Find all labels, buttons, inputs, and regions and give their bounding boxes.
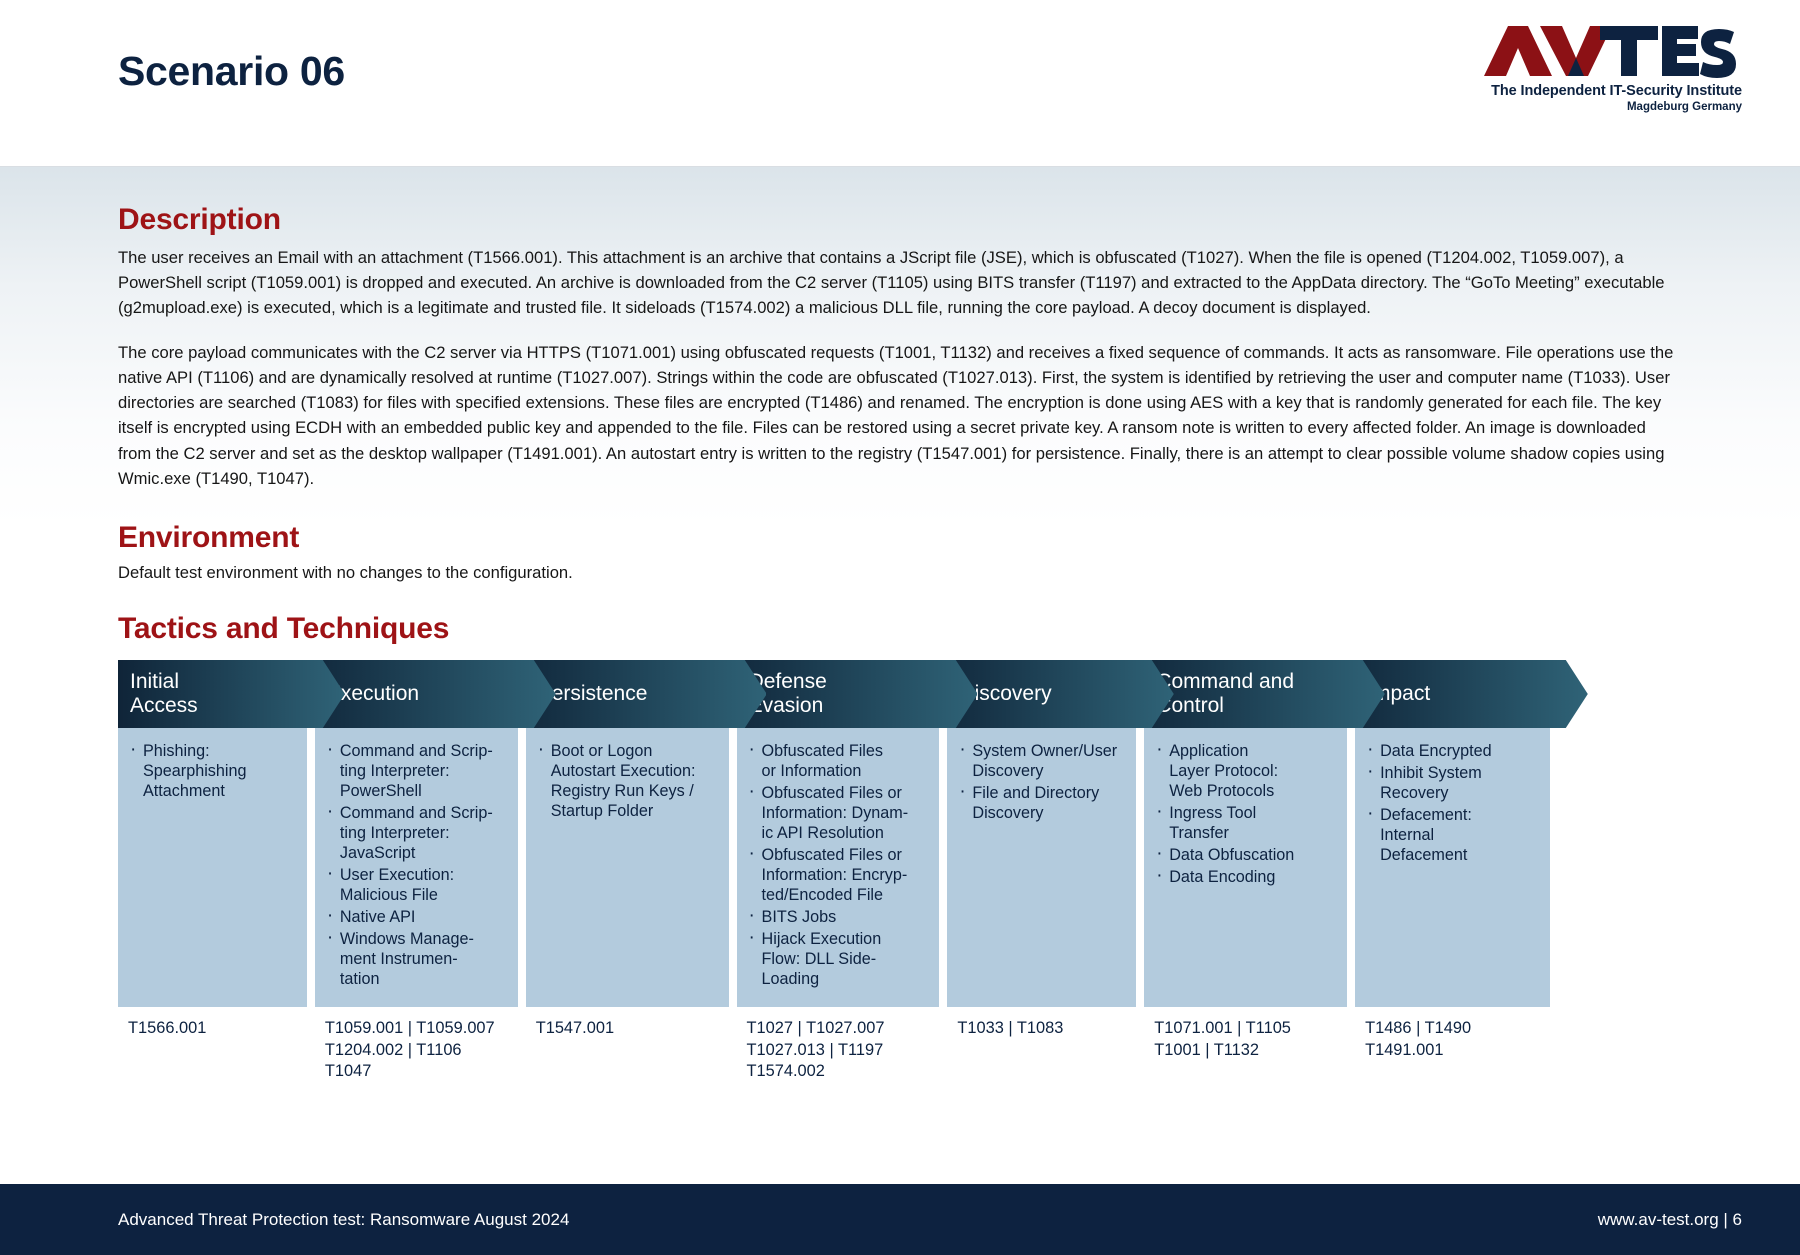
technique-item: User Execution: Malicious File [325,865,506,905]
technique-list: Application Layer Protocol: Web Protocol… [1154,741,1335,887]
av-test-logo: The Independent IT-Security Institute Ma… [1482,22,1742,115]
page-title: Scenario 06 [118,48,345,95]
footer-report-label: Advanced Threat Protection test: Ransomw… [118,1210,569,1230]
technique-list: Data EncryptedInhibit System RecoveryDef… [1365,741,1538,865]
technique-list: Command and Scrip- ting Interpreter: Pow… [325,741,506,989]
technique-item: Data Encoding [1154,867,1335,887]
environment-heading: Environment [118,521,1682,555]
technique-column: Command and Scrip- ting Interpreter: Pow… [315,728,518,1007]
technique-id-cell: T1033 | T1083 [947,1018,1136,1083]
technique-id-cell: T1547.001 [526,1018,729,1083]
technique-item: Native API [325,907,506,927]
technique-item: Obfuscated Files or Information [747,741,928,781]
technique-column: Boot or Logon Autostart Execution: Regis… [526,728,729,1007]
technique-item: Command and Scrip- ting Interpreter: Jav… [325,803,506,863]
technique-column: System Owner/User DiscoveryFile and Dire… [947,728,1136,1007]
technique-item: File and Directory Discovery [957,783,1124,823]
tactics-header-row: Initial AccessExecutionPersistenceDefens… [118,660,1550,728]
technique-id-cell: T1486 | T1490 T1491.001 [1355,1018,1550,1083]
description-heading: Description [118,203,1682,237]
technique-item: Application Layer Protocol: Web Protocol… [1154,741,1335,801]
tactics-body-row: Phishing: Spearphishing AttachmentComman… [118,728,1550,1007]
technique-column: Data EncryptedInhibit System RecoveryDef… [1355,728,1550,1007]
page-footer: Advanced Threat Protection test: Ransomw… [0,1184,1800,1255]
technique-list: Boot or Logon Autostart Execution: Regis… [536,741,717,821]
technique-list: Phishing: Spearphishing Attachment [128,741,295,801]
description-paragraph-2: The core payload communicates with the C… [118,340,1682,491]
tactics-table: Initial AccessExecutionPersistenceDefens… [118,660,1550,1083]
technique-item: Defacement: Internal Defacement [1365,805,1538,865]
page-content: Description The user receives an Email w… [0,167,1800,1185]
technique-item: Data Obfuscation [1154,845,1335,865]
tactics-heading: Tactics and Techniques [118,612,1550,646]
technique-item: Obfuscated Files or Information: Dynam- … [747,783,928,843]
technique-column: Phishing: Spearphishing Attachment [118,728,307,1007]
tactic-name: Command and Control [1156,670,1294,717]
technique-list: System Owner/User DiscoveryFile and Dire… [957,741,1124,823]
technique-column: Obfuscated Files or InformationObfuscate… [737,728,940,1007]
technique-item: Ingress Tool Transfer [1154,803,1335,843]
technique-item: Command and Scrip- ting Interpreter: Pow… [325,741,506,801]
technique-list: Obfuscated Files or InformationObfuscate… [747,741,928,989]
technique-item: Hijack Execution Flow: DLL Side- Loading [747,929,928,989]
tactics-id-row: T1566.001T1059.001 | T1059.007 T1204.002… [118,1007,1550,1083]
technique-item: Boot or Logon Autostart Execution: Regis… [536,741,717,821]
technique-id-cell: T1071.001 | T1105 T1001 | T1132 [1144,1018,1347,1083]
logo-tagline: The Independent IT-Security Institute [1482,82,1742,100]
environment-text: Default test environment with no changes… [118,561,1682,586]
technique-id-cell: T1566.001 [118,1018,307,1083]
technique-item: Obfuscated Files or Information: Encryp-… [747,845,928,905]
tactic-chevron[interactable]: Initial Access [118,660,345,728]
technique-item: System Owner/User Discovery [957,741,1124,781]
footer-website-page: www.av-test.org | 6 [1598,1210,1742,1230]
description-paragraph-1: The user receives an Email with an attac… [118,245,1682,321]
technique-id-cell: T1027 | T1027.007 T1027.013 | T1197 T157… [737,1018,940,1083]
technique-item: Inhibit System Recovery [1365,763,1538,803]
logo-city: Magdeburg Germany [1482,100,1742,114]
technique-item: BITS Jobs [747,907,928,927]
technique-item: Data Encrypted [1365,741,1538,761]
technique-item: Phishing: Spearphishing Attachment [128,741,295,801]
technique-id-cell: T1059.001 | T1059.007 T1204.002 | T1106 … [315,1018,518,1083]
page-header: Scenario 06 The Independent IT-Security … [0,0,1800,167]
technique-item: Windows Manage- ment Instrumen- tation [325,929,506,989]
technique-column: Application Layer Protocol: Web Protocol… [1144,728,1347,1007]
av-test-logo-mark [1482,22,1740,80]
tactic-name: Initial Access [130,670,198,717]
